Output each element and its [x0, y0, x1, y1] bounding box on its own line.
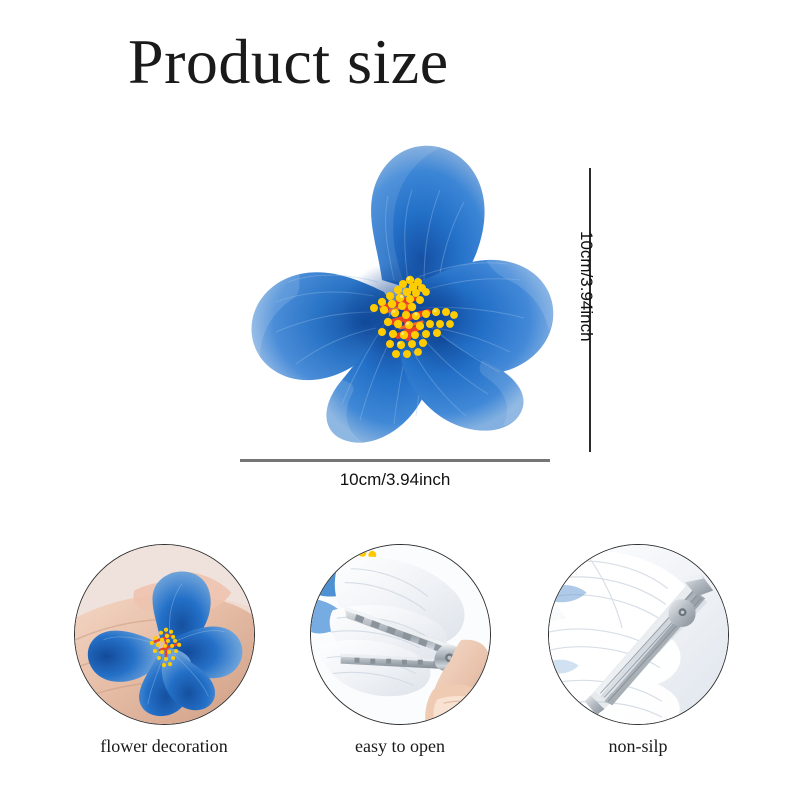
horizontal-measure-label: 10cm/3.94inch — [240, 470, 550, 490]
feature-caption: non-silp — [538, 736, 738, 757]
feature-caption: easy to open — [300, 736, 500, 757]
fingers-opening-hair-clip-photo — [310, 544, 491, 725]
vertical-measure-label: 10cm/3.94inch — [576, 231, 596, 342]
feature-row: flower decoration — [0, 540, 800, 780]
feature-item-easy-to-open: easy to open — [300, 540, 500, 780]
feature-caption: flower decoration — [64, 736, 264, 757]
hand-holding-blue-flower-photo — [74, 544, 255, 725]
clip-hinge — [669, 599, 696, 627]
hero-product-image — [232, 132, 562, 444]
page-title: Product size — [128, 30, 449, 94]
clip-attached-to-flower-back-photo — [548, 544, 729, 725]
feature-item-non-slip: non-silp — [538, 540, 738, 780]
product-size-infographic: Product size — [0, 0, 800, 800]
horizontal-measure-line — [240, 459, 550, 462]
feature-item-flower-decoration: flower decoration — [64, 540, 264, 780]
